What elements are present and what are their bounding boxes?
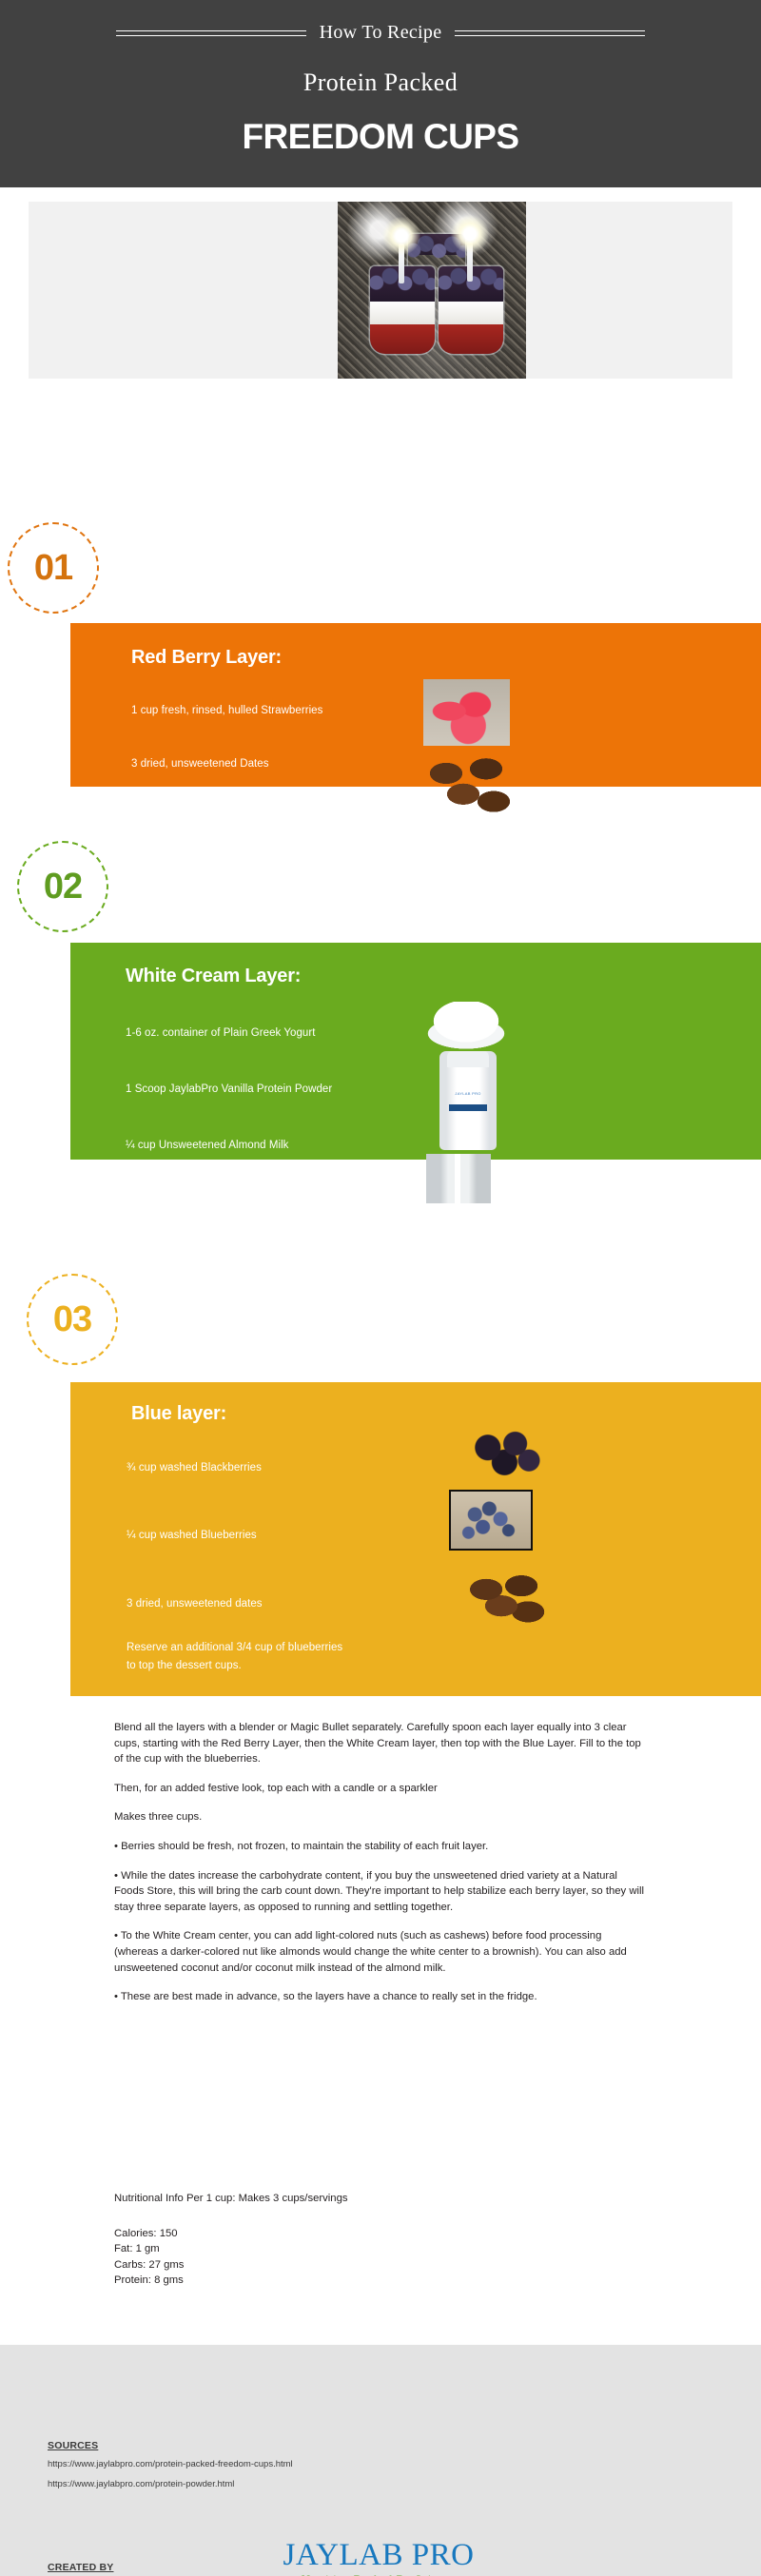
hero-photo <box>338 202 526 379</box>
instruction-paragraph: Makes three cups. <box>114 1809 647 1825</box>
blueberries-photo <box>449 1490 533 1551</box>
instruction-paragraph: Then, for an added festive look, top eac… <box>114 1781 647 1797</box>
created-by-label: CREATED BY <box>48 2562 113 2573</box>
nutrition-carbs: Carbs: 27 gms <box>114 2257 495 2274</box>
protein-tub-photo: JAYLAB PRO <box>439 1051 497 1150</box>
ingredient-item: ¼ cup Unsweetened Almond Milk <box>126 1140 289 1151</box>
page-subtitle: Protein Packed <box>0 68 761 97</box>
flame-left <box>382 217 420 255</box>
step-panel-white-cream: White Cream Layer: 1-6 oz. container of … <box>70 943 761 1160</box>
logo-wordmark: JAYLAB PRO <box>264 2540 493 2571</box>
nutrition-block: Nutritional Info Per 1 cup: Makes 3 cups… <box>114 2191 495 2289</box>
instruction-paragraph: Blend all the layers with a blender or M… <box>114 1720 647 1767</box>
kicker-rule-left <box>116 30 306 36</box>
step-panel-blue-layer: Blue layer: ¾ cup washed Blackberries ¼ … <box>70 1382 761 1696</box>
kicker-text: How To Recipe <box>320 22 442 44</box>
kicker-row: How To Recipe <box>0 22 761 44</box>
blackberries-photo <box>468 1430 544 1479</box>
ingredient-note: Reserve an additional 3/4 cup of blueber… <box>127 1642 342 1653</box>
instructions-block: Blend all the layers with a blender or M… <box>114 1720 647 2019</box>
almond-milk-photo <box>426 1154 491 1203</box>
step-badge-3: 03 <box>27 1274 118 1365</box>
jaylab-pro-logo: JAYLAB PRO Nutrition Backed By Science <box>264 2540 493 2576</box>
infographic-page: How To Recipe Protein Packed FREEDOM CUP… <box>0 0 761 2576</box>
kicker-rule-right <box>455 30 645 36</box>
ingredient-item: 1 Scoop JaylabPro Vanilla Protein Powder <box>126 1083 332 1095</box>
ingredient-item: 1-6 oz. container of Plain Greek Yogurt <box>126 1027 316 1039</box>
step-badge-1: 01 <box>8 522 99 614</box>
ingredient-item: ¾ cup washed Blackberries <box>127 1462 262 1473</box>
nutrition-fat: Fat: 1 gm <box>114 2241 495 2257</box>
instruction-bullet: • To the White Cream center, you can add… <box>114 1928 647 1976</box>
ingredient-note: to top the dessert cups. <box>127 1660 242 1671</box>
yogurt-photo <box>422 1002 510 1053</box>
step-badge-2: 02 <box>17 841 108 932</box>
sources-label: SOURCES <box>48 2440 98 2451</box>
ingredient-item: ¼ cup washed Blueberries <box>127 1530 257 1541</box>
nutrition-protein: Protein: 8 gms <box>114 2273 495 2289</box>
strawberries-photo <box>423 679 510 746</box>
page-footer: SOURCES https://www.jaylabpro.com/protei… <box>0 2345 761 2576</box>
panel-title-blue-layer: Blue layer: <box>131 1403 226 1425</box>
ingredient-item: 3 dried, unsweetened Dates <box>131 758 269 770</box>
ingredient-item: 1 cup fresh, rinsed, hulled Strawberries <box>131 705 322 716</box>
panel-title-white-cream: White Cream Layer: <box>126 966 301 987</box>
source-link-1[interactable]: https://www.jaylabpro.com/protein-packed… <box>48 2459 293 2469</box>
instruction-bullet: • While the dates increase the carbohydr… <box>114 1868 647 1916</box>
panel-title-red-berry: Red Berry Layer: <box>131 647 282 669</box>
page-title: FREEDOM CUPS <box>0 117 761 157</box>
nutrition-heading: Nutritional Info Per 1 cup: Makes 3 cups… <box>114 2191 495 2207</box>
source-link-2[interactable]: https://www.jaylabpro.com/protein-powder… <box>48 2479 234 2489</box>
nutrition-calories: Calories: 150 <box>114 2226 495 2242</box>
dates-photo <box>423 750 518 824</box>
ingredient-item: 3 dried, unsweetened dates <box>127 1598 263 1610</box>
page-header: How To Recipe Protein Packed FREEDOM CUP… <box>0 0 761 187</box>
step-panel-red-berry: Red Berry Layer: 1 cup fresh, rinsed, hu… <box>70 623 761 787</box>
instruction-bullet: • These are best made in advance, so the… <box>114 1989 647 2005</box>
instruction-bullet: • Berries should be fresh, not frozen, t… <box>114 1839 647 1855</box>
dates-photo <box>466 1571 550 1630</box>
flame-right <box>451 215 489 253</box>
